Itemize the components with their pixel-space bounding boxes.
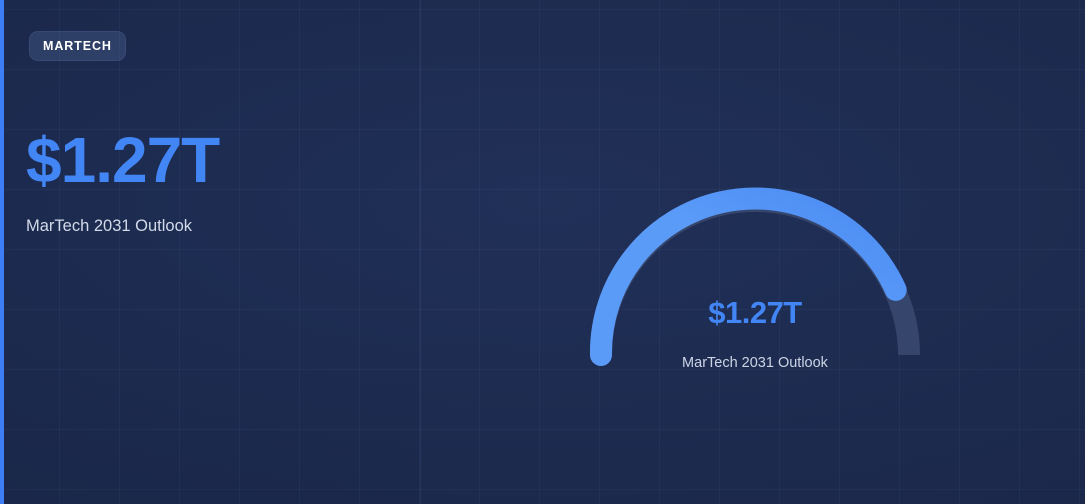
gauge-svg — [575, 175, 935, 380]
category-badge: MARTECH — [29, 31, 126, 61]
gauge-value-arc — [601, 198, 896, 355]
kpi-value: $1.27T — [26, 128, 219, 192]
kpi-caption: MarTech 2031 Outlook — [26, 218, 192, 235]
gauge-track — [601, 201, 909, 355]
gauge-chart: $1.27T MarTech 2031 Outlook — [575, 175, 935, 380]
gauge-center-caption: MarTech 2031 Outlook — [575, 356, 935, 371]
kpi-gauge-panel: MARTECH $1.27T MarTech 2031 Outlook $1.2… — [0, 0, 1085, 504]
panel-divider — [420, 0, 421, 504]
gauge-center-value: $1.27T — [575, 297, 935, 328]
left-accent-rail — [0, 0, 4, 504]
category-badge-label: MARTECH — [43, 39, 112, 53]
